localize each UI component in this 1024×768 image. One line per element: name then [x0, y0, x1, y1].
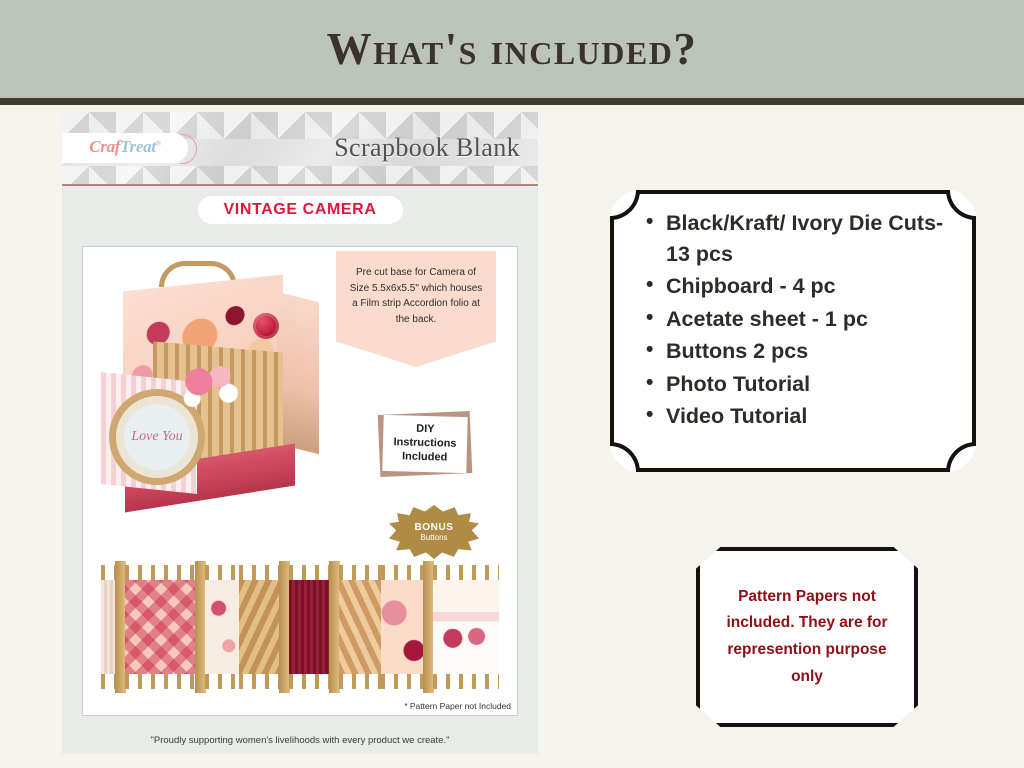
diy-instructions-badge: DIY Instructions Included — [379, 413, 471, 475]
note-box-text: Pattern Papers not included. They are fo… — [696, 547, 918, 727]
film-sprockets-bottom — [339, 674, 381, 689]
folio-panel — [125, 565, 197, 689]
list-item: Black/Kraft/ Ivory Die Cuts- 13 pcs — [644, 208, 954, 269]
vintage-camera-product-photo: Love You — [101, 261, 316, 526]
folio-panel-pattern — [289, 580, 331, 674]
film-sprockets-top — [205, 565, 239, 580]
header-divider — [0, 98, 1024, 105]
frame-edge-left — [610, 219, 614, 443]
list-item: Acetate sheet - 1 pc — [644, 304, 954, 335]
film-sprockets-bottom — [125, 674, 197, 689]
bonus-badge-subtitle: Buttons — [420, 533, 447, 542]
film-sprockets-bottom — [239, 674, 281, 689]
film-sprockets-top — [433, 565, 499, 580]
header-banner: What's included? — [0, 0, 1024, 98]
card-tagline: "Proudly supporting women's livelihoods … — [62, 735, 538, 746]
diy-badge-text: DIY Instructions Included — [382, 422, 467, 465]
film-sprockets-top — [239, 565, 281, 580]
card-brand-bar: CrafTreat® Scrapbook Blank — [62, 112, 538, 184]
product-name-row: VINTAGE CAMERA — [62, 186, 538, 234]
folio-panel — [239, 565, 281, 689]
film-sprockets-bottom — [289, 674, 331, 689]
bonus-badge-title: BONUS — [414, 522, 453, 533]
photo-footnote: * Pattern Paper not Included — [404, 701, 511, 711]
frame-edge-right — [972, 219, 976, 443]
folio-panel — [339, 565, 381, 689]
description-callout-text: Pre cut base for Camera of Size 5.5x6x5.… — [346, 265, 486, 327]
list-item: Chipboard - 4 pc — [644, 271, 954, 302]
film-sprockets-top — [381, 565, 425, 580]
film-sprockets-bottom — [205, 674, 239, 689]
frame-edge-top — [639, 190, 947, 194]
folio-panel-pattern — [339, 580, 381, 674]
brand-logo-part1: Craf — [89, 137, 120, 156]
camera-side-panel — [277, 292, 319, 454]
lens-love-you-text: Love You — [131, 430, 182, 445]
folio-panel — [205, 565, 239, 689]
film-sprockets-top — [125, 565, 197, 580]
list-item: Photo Tutorial — [644, 369, 954, 400]
folio-panel — [433, 565, 499, 689]
brand-logo: CrafTreat® — [62, 133, 188, 163]
film-sprockets-bottom — [381, 674, 425, 689]
camera-lens-inner: Love You — [124, 404, 190, 470]
folio-panel-pattern — [125, 580, 197, 674]
film-sprockets-bottom — [433, 674, 499, 689]
product-card: CrafTreat® Scrapbook Blank VINTAGE CAMER… — [62, 112, 538, 754]
list-item: Video Tutorial — [644, 401, 954, 432]
film-sprockets-top — [289, 565, 331, 580]
included-items-list: Black/Kraft/ Ivory Die Cuts- 13 pcs Chip… — [644, 208, 954, 434]
included-items-frame: Black/Kraft/ Ivory Die Cuts- 13 pcs Chip… — [610, 190, 976, 472]
description-callout-banner: Pre cut base for Camera of Size 5.5x6x5.… — [336, 251, 496, 367]
folio-panel-pattern — [239, 580, 281, 674]
folio-panel — [381, 565, 425, 689]
bonus-starburst-badge: BONUS Buttons — [389, 505, 479, 559]
list-item: Buttons 2 pcs — [644, 336, 954, 367]
frame-edge-bottom — [639, 468, 947, 472]
red-button-embellishment — [253, 313, 279, 339]
folio-panel-pattern — [433, 580, 499, 674]
card-category-subtitle: Scrapbook Blank — [334, 133, 520, 163]
diy-badge-card: DIY Instructions Included — [382, 415, 467, 473]
registered-mark-icon: ® — [156, 139, 161, 147]
product-photo-panel: Love You Pre cut base for Camera of Size… — [82, 246, 518, 716]
film-sprockets-top — [339, 565, 381, 580]
brand-logo-text: CrafTreat® — [89, 137, 161, 157]
folio-panel-pattern — [381, 580, 425, 674]
page-title: What's included? — [327, 23, 698, 75]
film-strip-folio-photo — [93, 557, 508, 697]
folio-panel-pattern — [205, 580, 239, 674]
product-name-badge: VINTAGE CAMERA — [198, 196, 403, 224]
pattern-paper-note-box: Pattern Papers not included. They are fo… — [696, 547, 918, 727]
brand-logo-part2: Treat — [120, 137, 156, 156]
folio-panel — [289, 565, 331, 689]
floral-embellishment — [179, 361, 245, 413]
